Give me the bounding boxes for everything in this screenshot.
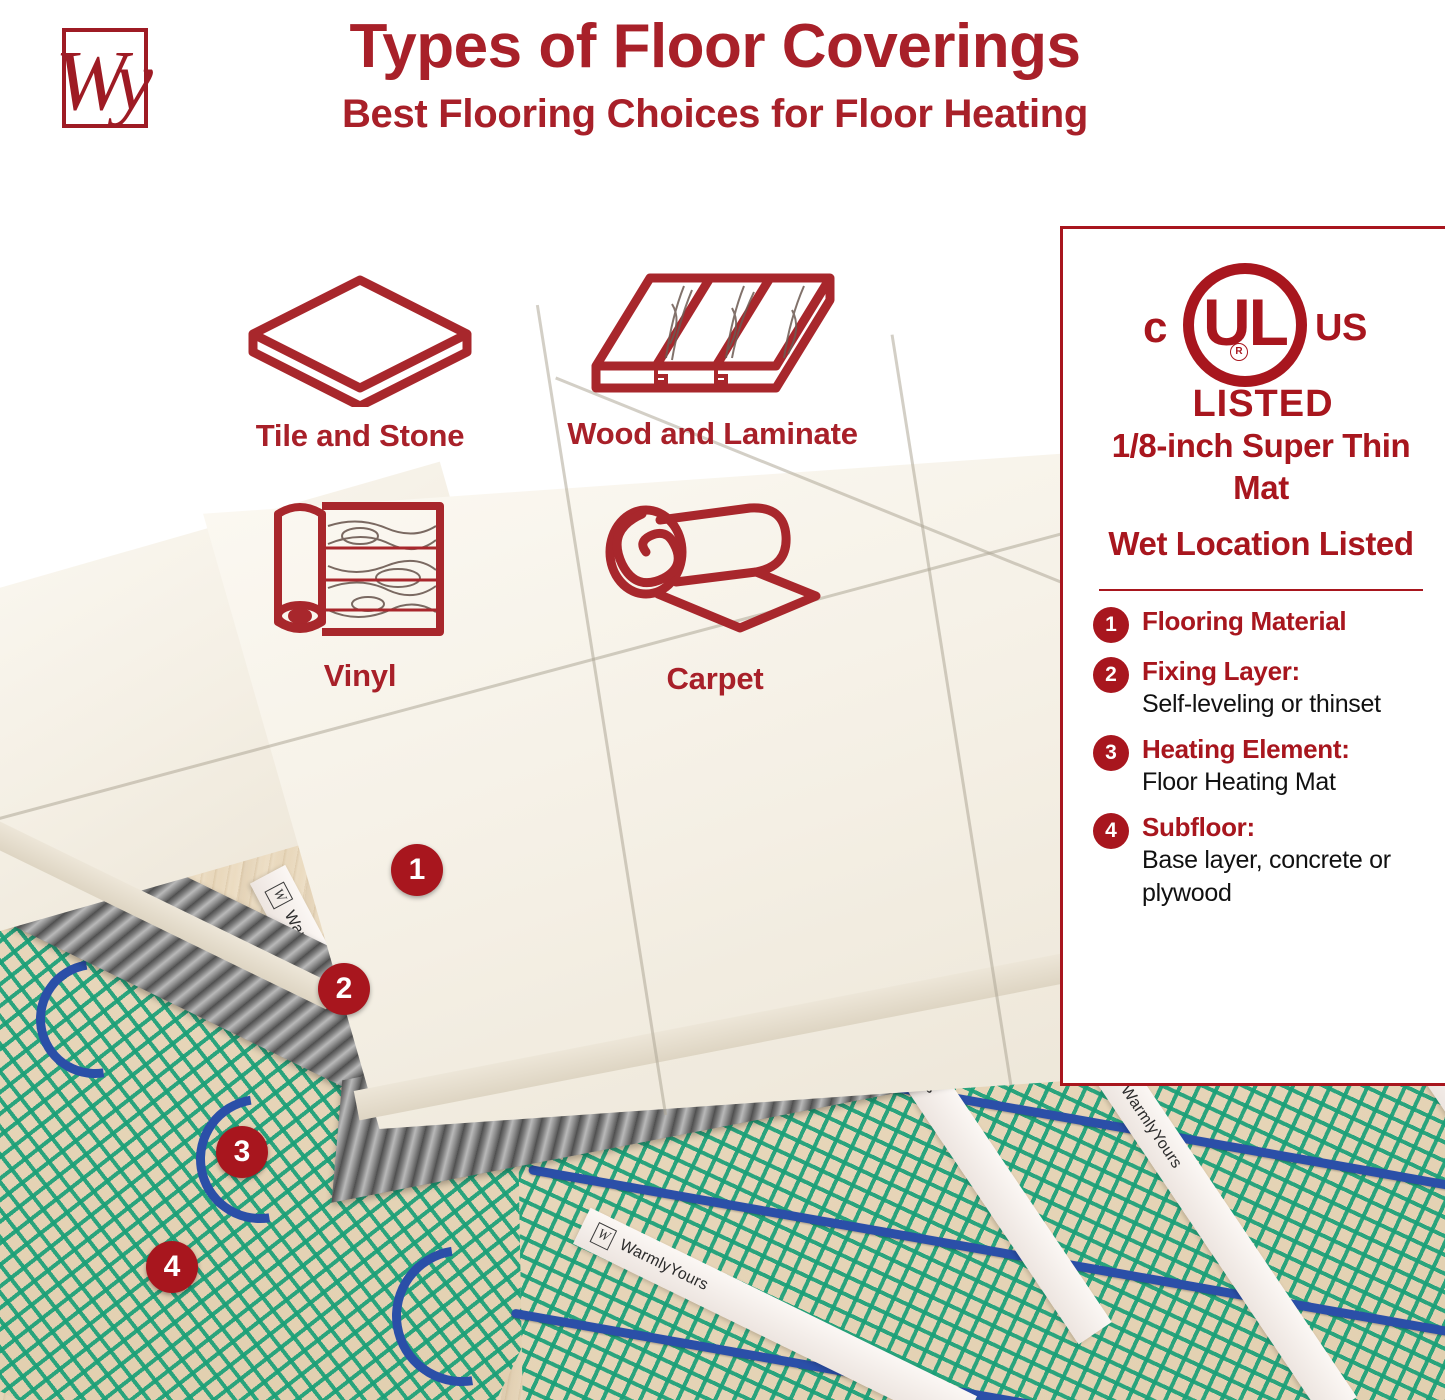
legend-badge-4: 4 xyxy=(1093,813,1129,849)
ul-mark-c: c xyxy=(1143,303,1167,353)
wy-logo-icon: W xyxy=(590,1222,618,1251)
page-subtitle: Best Flooring Choices for Floor Heating xyxy=(170,88,1260,140)
logo-monogram: Wy xyxy=(36,14,168,146)
flooring-type-carpet: Carpet xyxy=(555,500,875,697)
flooring-type-label: Carpet xyxy=(555,661,875,697)
ul-mark-ul: UL xyxy=(1183,263,1307,387)
wood-planks-icon xyxy=(588,270,838,405)
ul-mark-us: US xyxy=(1315,307,1367,350)
legend-title-1: Flooring Material xyxy=(1142,605,1429,638)
panel-divider xyxy=(1099,589,1423,591)
vinyl-roll-icon xyxy=(268,492,453,647)
panel-headline-2: Wet Location Listed xyxy=(1093,523,1429,565)
legend-item-2: 2 Fixing Layer: Self-leveling or thinset xyxy=(1093,655,1429,721)
legend-badge-3: 3 xyxy=(1093,735,1129,771)
page-header: Wy Types of Floor Coverings Best Floorin… xyxy=(0,0,1445,205)
legend-item-1: 1 Flooring Material xyxy=(1093,605,1429,643)
flooring-type-label: Tile and Stone xyxy=(200,418,520,454)
legend-desc-4: Base layer, concrete or plywood xyxy=(1142,844,1429,910)
legend-text-3: Heating Element: Floor Heating Mat xyxy=(1142,733,1429,799)
ul-mark-registered: R xyxy=(1230,343,1248,361)
legend-item-4: 4 Subfloor: Base layer, concrete or plyw… xyxy=(1093,811,1429,910)
page-title: Types of Floor Coverings xyxy=(170,8,1260,86)
ul-mark-listed: LISTED xyxy=(1093,383,1433,426)
panel-headline-1: 1/8-inch Super Thin Mat xyxy=(1093,425,1429,509)
legend-desc-3: Floor Heating Mat xyxy=(1142,766,1429,799)
photo-callout-1: 1 xyxy=(391,844,443,896)
title-block: Types of Floor Coverings Best Flooring C… xyxy=(170,8,1260,140)
legend-text-4: Subfloor: Base layer, concrete or plywoo… xyxy=(1142,811,1429,910)
legend-text-1: Flooring Material xyxy=(1142,605,1429,638)
photo-callout-2: 2 xyxy=(318,963,370,1015)
flooring-type-label: Wood and Laminate xyxy=(545,416,880,452)
warmlyyours-logo-icon: Wy xyxy=(36,14,168,146)
legend-badge-2: 2 xyxy=(1093,657,1129,693)
flooring-type-tile-and-stone: Tile and Stone xyxy=(200,272,520,454)
photo-callout-4: 4 xyxy=(146,1241,198,1293)
tile-diamond-icon xyxy=(245,272,475,407)
legend-title-3: Heating Element: xyxy=(1142,733,1429,766)
photo-callout-3: 3 xyxy=(216,1126,268,1178)
wy-logo-icon: W xyxy=(264,882,293,910)
flooring-type-vinyl: Vinyl xyxy=(205,492,515,694)
legend-text-2: Fixing Layer: Self-leveling or thinset xyxy=(1142,655,1429,721)
info-panel: c UL R US LISTED 1/8-inch Super Thin Mat… xyxy=(1060,226,1445,1086)
legend-title-2: Fixing Layer: xyxy=(1142,655,1429,688)
carpet-roll-icon xyxy=(600,500,830,650)
legend-item-3: 3 Heating Element: Floor Heating Mat xyxy=(1093,733,1429,799)
flooring-type-wood-and-laminate: Wood and Laminate xyxy=(545,270,880,452)
legend-badge-1: 1 xyxy=(1093,607,1129,643)
legend-title-4: Subfloor: xyxy=(1142,811,1429,844)
legend-desc-2: Self-leveling or thinset xyxy=(1142,688,1429,721)
ul-listed-mark-icon: c UL R US LISTED xyxy=(1093,255,1429,425)
flooring-type-label: Vinyl xyxy=(205,658,515,694)
